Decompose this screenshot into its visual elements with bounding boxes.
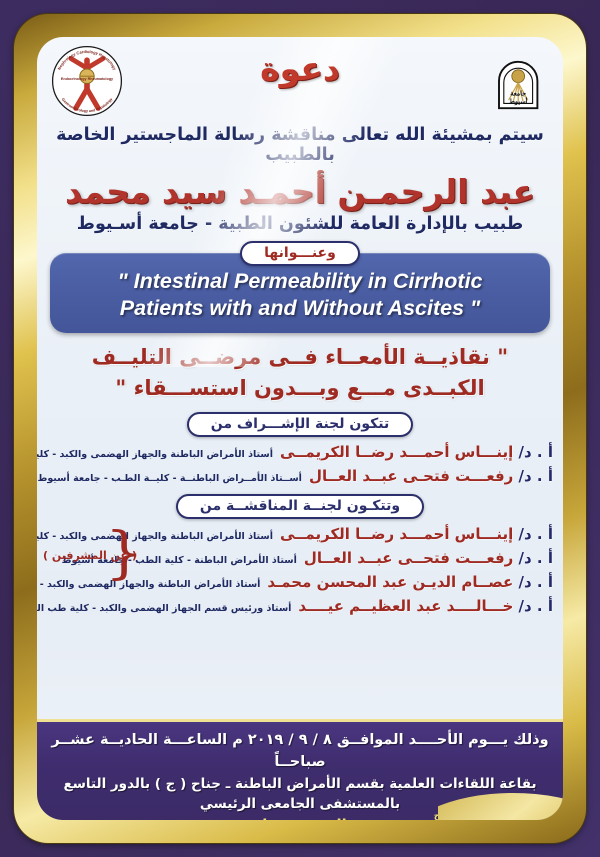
gold-frame: Nephrology Cardiology Hepatology Gastroe…: [14, 14, 586, 843]
poster-header: Nephrology Cardiology Hepatology Gastroe…: [37, 37, 563, 123]
table-row: أ . د/ إينـــاس أحمـــد رضــا الكريمــى …: [155, 525, 553, 543]
contact-info: أشـرف الحـاج ٠١٠١٦٧٢٠٦٦٠: [434, 810, 494, 820]
assiut-university-red-crescent-logo: جامعة أسيوط: [451, 40, 555, 122]
event-datetime: وذلك يـــوم الأحــــد الموافــق ٨ / ٩ / …: [37, 730, 563, 774]
svg-text:جامعة: جامعة: [510, 90, 526, 97]
supervisor-prefix-1: أ . د/: [519, 467, 553, 485]
thesis-title-badge-wrap: وعنـــوانها: [37, 241, 563, 266]
supervisor-title-0: أستاذ الأمراض الباطنة والجهاز الهضمى وال…: [37, 449, 273, 460]
poster-root: Nephrology Cardiology Hepatology Gastroe…: [0, 0, 600, 857]
table-row: أ . د/ رفعـــت فتحــى عبــد العــال أستا…: [155, 549, 553, 567]
supervision-badge-wrap: تتكون لجنة الإشـــراف من: [37, 412, 563, 437]
examiner-prefix-1: أ . د/: [519, 549, 553, 567]
examiner-name-2: أ . د/ عصــام الديـن عبد المحسن محمـد: [267, 573, 553, 591]
examiner-prefix-3: أ . د/: [519, 597, 553, 615]
english-title-line2: Patients with and Without Ascites ": [64, 295, 536, 322]
examiner-title-3: أستاذ ورئيس قسم الجهاز الهضمى والكبد - ك…: [37, 603, 291, 614]
arabic-title-line1: " نقاذيــة الأمعــاء فــى مرضــى التليــ…: [53, 342, 547, 372]
table-row: أ . د/ رفعـــت فتحـى عبــد العــال أســت…: [45, 467, 553, 485]
discussion-committee-section: وتتكـون لجنــة المناقشــة من { ( عن المش…: [37, 494, 563, 615]
supervision-committee-section: تتكون لجنة الإشـــراف من أ . د/ إينـــاس…: [37, 412, 563, 485]
svg-text:أسيوط: أسيوط: [509, 96, 527, 105]
english-title-line1: " Intestinal Permeability in Cirrhotic: [64, 268, 536, 295]
table-row: أ . د/ خـــالــــد عبد العظيــم عيــــد …: [45, 597, 553, 615]
discussion-badge-wrap: وتتكـون لجنــة المناقشــة من: [37, 494, 563, 519]
supervisor-prefix-0: أ . د/: [519, 443, 553, 461]
supervisors-brace-group: { ( عن المشرفين ) أ . د/ إينـــاس أحمـــ…: [37, 525, 563, 567]
examiner-name-1: أ . د/ رفعـــت فتحــى عبــد العــال: [304, 549, 553, 567]
invitation-intro-line: سيتم بمشيئة الله تعالى مناقشة رسالة الما…: [45, 125, 555, 165]
supervision-committee-badge: تتكون لجنة الإشـــراف من: [187, 412, 414, 437]
examiner-name-3: أ . د/ خـــالــــد عبد العظيــم عيــــد: [298, 597, 553, 615]
discussion-committee-badge: وتتكـون لجنــة المناقشــة من: [176, 494, 424, 519]
supervisor-name-0: أ . د/ إينـــاس أحمـــد رضــا الكريمــى: [280, 443, 553, 461]
poster-footer: وذلك يـــوم الأحــــد الموافــق ٨ / ٩ / …: [37, 719, 563, 820]
invitation-card: Nephrology Cardiology Hepatology Gastroe…: [37, 37, 563, 820]
candidate-name: عبد الرحمـن أحمـد سيد محمد: [37, 172, 563, 211]
examiner-prefix-0: أ . د/: [519, 525, 553, 543]
contact-name: أشـرف الحـاج: [434, 810, 494, 820]
examiner-title-0: أستاذ الأمراض الباطنة والجهاز الهضمى وال…: [37, 531, 273, 542]
candidate-role: طبيب بالإدارة العامة للشئون الطبية - جام…: [45, 214, 555, 234]
layout-spacer: [37, 615, 563, 719]
arabic-title-line2: الكبــدى مـــع وبـــدون استســـقاء ": [53, 373, 547, 403]
brace-label: ( عن المشرفين ): [43, 549, 137, 562]
supervisor-name-1: أ . د/ رفعـــت فتحـى عبــد العــال: [309, 467, 553, 485]
table-row: أ . د/ إينـــاس أحمـــد رضــا الكريمــى …: [45, 443, 553, 461]
event-venue: بقاعة اللقاءات العلمية بقسم الأمراض البا…: [37, 774, 563, 815]
examiner-title-2: أستاذ الأمراض الباطنة والجهاز الهضمى وال…: [37, 579, 260, 590]
examiner-name-0: أ . د/ إينـــاس أحمـــد رضــا الكريمــى: [280, 525, 553, 543]
thesis-title-badge: وعنـــوانها: [240, 241, 360, 266]
examiner-prefix-2: أ . د/: [519, 573, 553, 591]
supervisor-title-1: أســتاذ الأمــراض الباطنــة - كليــة الط…: [37, 473, 301, 484]
